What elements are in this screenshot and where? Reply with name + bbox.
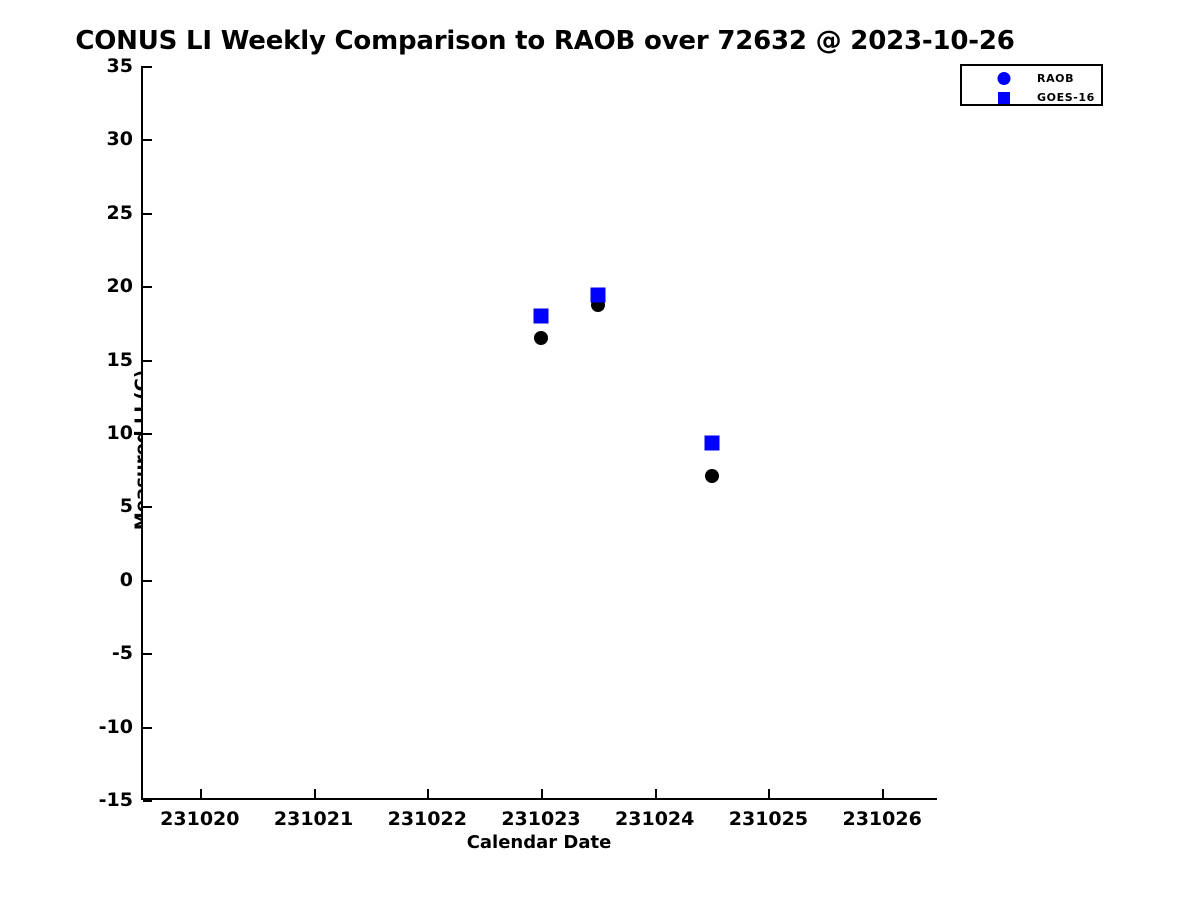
y-tick-mark xyxy=(143,286,152,288)
y-tick-label: 35 xyxy=(107,55,133,77)
data-point-goes-16 xyxy=(534,309,549,324)
legend-marker-circle-icon xyxy=(998,72,1011,85)
chart-title: CONUS LI Weekly Comparison to RAOB over … xyxy=(0,26,1090,56)
y-tick-mark xyxy=(143,800,152,802)
y-tick-mark xyxy=(143,580,152,582)
x-tick-mark xyxy=(655,789,657,798)
y-tick-label: 20 xyxy=(107,275,133,297)
legend-label: GOES-16 xyxy=(1037,91,1095,104)
y-tick-label: 0 xyxy=(120,569,133,591)
y-tick-label: 10 xyxy=(107,422,133,444)
data-point-goes-16 xyxy=(590,288,605,303)
y-tick-mark xyxy=(143,139,152,141)
x-tick-label: 231024 xyxy=(615,808,694,830)
x-tick-label: 231023 xyxy=(501,808,580,830)
y-tick-mark xyxy=(143,727,152,729)
x-tick-mark xyxy=(768,789,770,798)
x-tick-label: 231022 xyxy=(388,808,467,830)
x-tick-mark xyxy=(882,789,884,798)
x-tick-mark xyxy=(314,789,316,798)
y-tick-label: 5 xyxy=(120,495,133,517)
data-point-goes-16 xyxy=(704,436,719,451)
x-tick-label: 231021 xyxy=(274,808,353,830)
x-tick-label: 231020 xyxy=(160,808,239,830)
legend-entry-goes-16: GOES-16 xyxy=(962,88,1101,107)
y-tick-mark xyxy=(143,213,152,215)
data-point-raob xyxy=(705,469,719,483)
x-axis-title: Calendar Date xyxy=(141,832,937,853)
chart-legend: RAOBGOES-16 xyxy=(960,64,1103,106)
x-tick-label: 231025 xyxy=(729,808,808,830)
y-tick-label: 25 xyxy=(107,202,133,224)
y-tick-label: -10 xyxy=(99,716,133,738)
legend-entry-raob: RAOB xyxy=(962,69,1101,88)
y-tick-mark xyxy=(143,506,152,508)
x-tick-mark xyxy=(427,789,429,798)
y-tick-mark xyxy=(143,360,152,362)
x-tick-mark xyxy=(200,789,202,798)
y-tick-label: -5 xyxy=(112,642,133,664)
chart-figure: CONUS LI Weekly Comparison to RAOB over … xyxy=(0,0,1200,900)
y-tick-mark xyxy=(143,66,152,68)
y-tick-label: 30 xyxy=(107,128,133,150)
legend-marker-square-icon xyxy=(998,92,1010,104)
x-tick-label: 231026 xyxy=(842,808,921,830)
y-tick-label: 15 xyxy=(107,349,133,371)
plot-area: 35302520151050-5-10-15 23102023102123102… xyxy=(141,66,937,800)
y-tick-mark xyxy=(143,653,152,655)
y-tick-mark xyxy=(143,433,152,435)
x-tick-mark xyxy=(541,789,543,798)
legend-label: RAOB xyxy=(1037,72,1074,85)
y-tick-label: -15 xyxy=(99,789,133,811)
data-point-raob xyxy=(534,331,548,345)
